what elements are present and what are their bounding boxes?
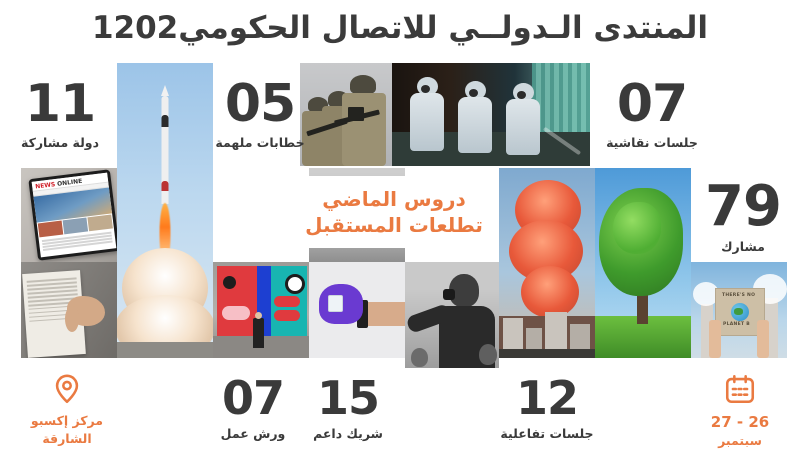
stat-label: مشارك xyxy=(721,239,765,254)
stat-participants: 79 مشارك xyxy=(693,172,793,262)
mlk-scene xyxy=(405,262,499,368)
date-days: 27 - 26 xyxy=(711,412,769,432)
venue-line-1: مركز إكسبو xyxy=(31,412,103,430)
photo-climate-protest-sign: THERE'S NO PLANET B xyxy=(691,262,787,358)
rocket-band xyxy=(162,115,169,127)
mural-lips-2 xyxy=(274,310,300,321)
hazmat-suit-1 xyxy=(410,93,444,151)
calendar-icon xyxy=(723,372,757,406)
placard-text-bottom: PLANET B xyxy=(723,322,750,327)
photo-tree-climate xyxy=(595,168,691,358)
slogan-line-2: تطلعات المستقبل xyxy=(305,212,483,238)
mlk-audience-head xyxy=(411,348,428,367)
tree-canopy-highlight xyxy=(613,202,661,254)
photo-rocket-launch xyxy=(117,63,213,358)
photo-glove-holding-vial xyxy=(309,262,405,358)
launch-pad xyxy=(117,342,213,358)
soldier-torso-3 xyxy=(342,93,386,166)
stat-label: خطابات ملهمة xyxy=(215,135,304,150)
vaccine-vial xyxy=(328,295,343,312)
page-title: المنتدى الـدولــي للاتصال الحكومي2021 xyxy=(92,10,708,46)
mural-mouth-pink xyxy=(222,306,250,320)
rocket-band-2 xyxy=(162,181,169,191)
hazmat-mask-2 xyxy=(469,89,478,97)
photo-martin-luther-king xyxy=(405,262,499,368)
mlk-audience-head xyxy=(479,344,497,365)
rocket-sky xyxy=(117,63,213,358)
explosion-scene xyxy=(499,168,595,358)
stat-number: 05 xyxy=(225,80,295,129)
stat-label: جلسات نقاشية xyxy=(606,135,698,150)
slogan-line-1: دروس الماضي xyxy=(322,186,466,212)
stat-discussion-sessions: 07 جلسات نقاشية xyxy=(592,70,712,160)
tablet-device: NEWSONLINE xyxy=(28,169,117,260)
date-block: 27 - 26 سبتمبر xyxy=(688,372,792,450)
photo-beirut-explosion xyxy=(499,168,595,358)
hazmat-building xyxy=(532,63,590,133)
tree-scene xyxy=(595,168,691,358)
venue-block: مركز إكسبو الشارقة xyxy=(12,372,122,447)
soldier-rifle-3 xyxy=(348,107,364,121)
stat-number: 07 xyxy=(222,377,284,421)
stat-number: 07 xyxy=(617,80,687,129)
soldiers-scene xyxy=(300,63,392,166)
hazmat-mask-1 xyxy=(421,85,430,93)
stat-label: ورش عمل xyxy=(221,426,286,441)
mlk-open-mouth xyxy=(443,289,455,300)
event-slogan: دروس الماضي تطلعات المستقبل xyxy=(296,176,492,248)
photo-berlin-wall-art xyxy=(213,262,309,358)
rocket-nose-icon xyxy=(161,85,169,96)
location-pin-icon xyxy=(50,372,84,406)
soldier-helmet-3 xyxy=(350,75,376,94)
mural-passerby xyxy=(253,318,264,348)
photo-soldiers xyxy=(300,63,392,166)
tablet-screen: NEWSONLINE xyxy=(32,173,117,258)
hazmat-mask-3 xyxy=(517,91,526,99)
news-thumb xyxy=(87,214,113,231)
glove-scene xyxy=(309,262,405,358)
date-month: سبتمبر xyxy=(718,432,762,450)
stat-number: 15 xyxy=(317,377,379,421)
reader-thumb xyxy=(65,306,79,332)
mural-eye-red xyxy=(223,276,236,289)
photo-news-tablet: NEWSONLINE xyxy=(21,168,117,262)
protester-arm-right xyxy=(757,320,769,358)
protester-arm-left xyxy=(709,320,721,358)
explosion-cloud-low xyxy=(521,266,579,318)
stat-inspiring-speeches: 05 خطابات ملهمة xyxy=(215,70,305,160)
venue-line-2: الشارقة xyxy=(42,430,91,448)
hazmat-suit-3 xyxy=(506,99,540,155)
infographic-poster: المنتدى الـدولــي للاتصال الحكومي2021 xyxy=(0,0,800,450)
news-thumb xyxy=(63,218,89,235)
stat-number: 12 xyxy=(516,377,578,421)
mural-panel-teal xyxy=(271,266,307,338)
mural-lips-1 xyxy=(274,296,300,307)
news-thumb xyxy=(38,221,64,238)
newspaper-scene xyxy=(21,262,117,358)
stat-label: جلسات تفاعلية xyxy=(500,426,593,441)
stat-supporting-partners: 15 شريك داعم xyxy=(300,372,396,446)
stat-interactive-sessions: 12 جلسات تفاعلية xyxy=(492,372,602,446)
protest-scene: THERE'S NO PLANET B xyxy=(691,262,787,358)
mural-scene xyxy=(213,262,309,358)
stat-label: دولة مشاركة xyxy=(21,135,99,150)
stat-number: 79 xyxy=(705,180,781,233)
mural-eye-teal xyxy=(285,274,305,294)
hazmat-scene xyxy=(392,63,590,166)
mural-passerby-head xyxy=(255,312,262,319)
stat-workshops: 07 ورش عمل xyxy=(205,372,301,446)
photo-newspaper-hand xyxy=(21,262,117,358)
earth-globe-icon xyxy=(731,303,749,321)
photo-hazmat-disinfection xyxy=(392,63,590,166)
news-desk: NEWSONLINE xyxy=(21,168,117,262)
hazmat-suit-2 xyxy=(458,97,492,153)
page-title-bar: المنتدى الـدولــي للاتصال الحكومي2021 xyxy=(0,0,800,56)
mural-panel-red xyxy=(217,266,257,338)
stat-countries: 11 دولة مشاركة xyxy=(8,70,112,160)
stat-number: 11 xyxy=(25,80,95,129)
placard-text-top: THERE'S NO xyxy=(722,293,755,298)
city-foreground xyxy=(499,349,595,358)
stat-label: شريك داعم xyxy=(313,426,383,441)
